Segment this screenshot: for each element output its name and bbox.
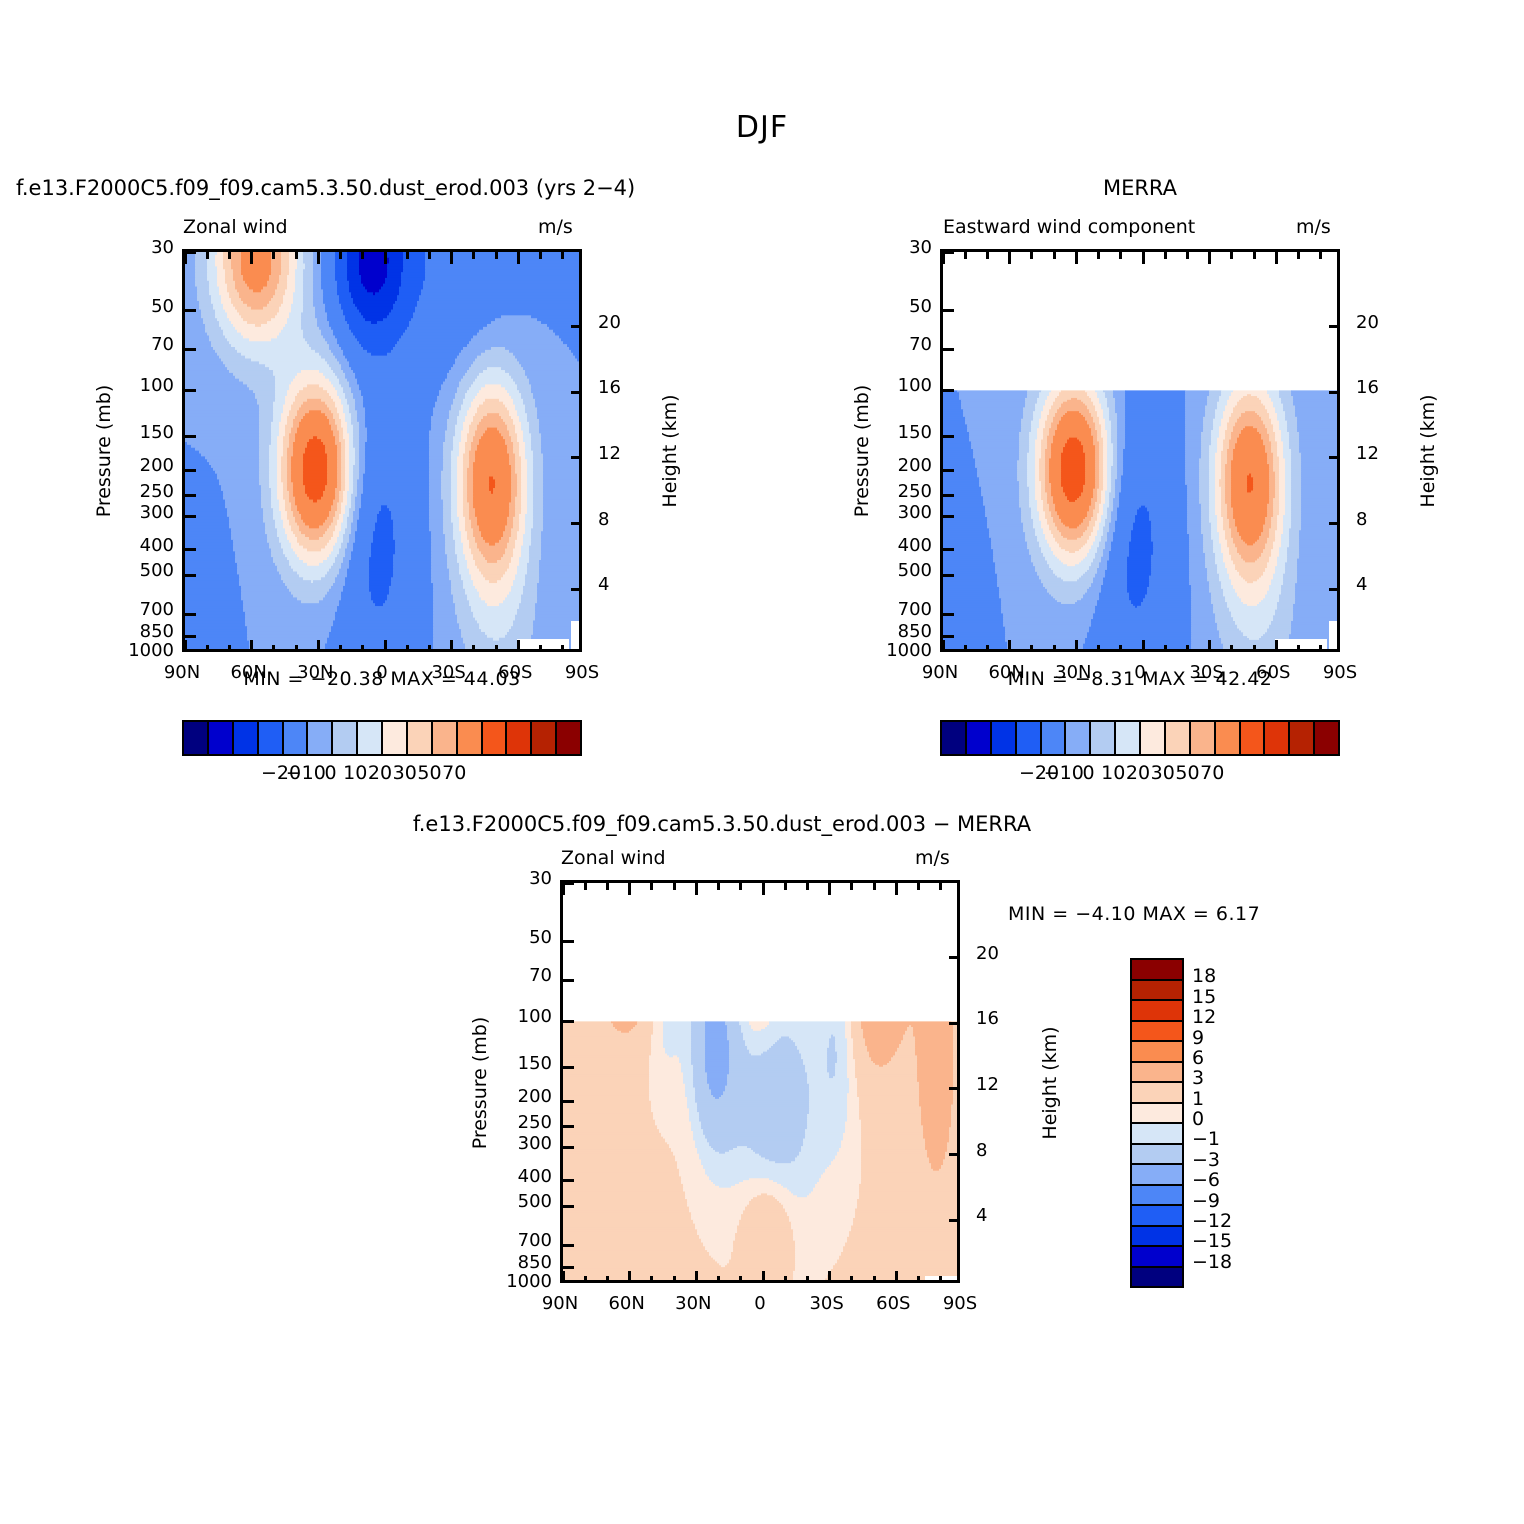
pressure-tick <box>563 1100 574 1103</box>
colorbar-cell-14 <box>532 722 557 754</box>
pressure-tick-label: 300 <box>862 502 932 523</box>
obs-variable-label: Eastward wind component <box>943 216 1195 238</box>
pressure-tick <box>943 548 954 551</box>
lat-tick <box>1186 645 1189 652</box>
lat-tick <box>606 1276 609 1283</box>
height-tick-label: 12 <box>598 443 638 464</box>
colorbar-cell-13 <box>1265 722 1290 754</box>
lat-tick-top <box>317 252 320 264</box>
colorbar-tick-label: 70 <box>1177 762 1247 784</box>
height-tick-label: 4 <box>598 574 638 595</box>
height-tick-label: 16 <box>1356 377 1396 398</box>
height-tick-label: 20 <box>976 943 1016 964</box>
colorbar-tick-label: 12 <box>1192 1006 1262 1028</box>
height-tick <box>571 456 582 459</box>
colorbar-tick-label: −18 <box>1192 1251 1262 1273</box>
height-tick <box>571 522 582 525</box>
lat-tick <box>739 1276 742 1283</box>
lat-tick <box>1164 645 1167 652</box>
lat-tick-top <box>206 252 209 259</box>
diff-height-axis-label: Height (km) <box>1039 973 1061 1193</box>
pressure-tick <box>185 309 196 312</box>
colorbar-tick-label: −1 <box>1192 1128 1262 1150</box>
height-tick-label: 8 <box>598 509 638 530</box>
height-tick <box>1329 522 1340 525</box>
lat-tick <box>561 645 564 652</box>
lat-tick-top <box>1164 252 1167 259</box>
colorbar-tick-label: −9 <box>1192 1190 1262 1212</box>
pressure-tick-label: 150 <box>862 422 932 443</box>
pressure-tick-label: 500 <box>482 1191 552 1212</box>
lat-tick-top <box>272 252 275 259</box>
colorbar-tick-label: 1 <box>1192 1088 1262 1110</box>
pressure-tick-label: 150 <box>104 422 174 443</box>
height-tick <box>1329 456 1340 459</box>
colorbar-tick-label: 18 <box>1192 965 1262 987</box>
colorbar-cell-10 <box>433 722 458 754</box>
pressure-tick <box>563 1179 574 1182</box>
lat-tick <box>361 645 364 652</box>
pressure-tick <box>185 389 196 392</box>
lat-tick-top <box>561 252 564 259</box>
lat-tick-label: 30N <box>1038 662 1108 683</box>
obs-height-axis-label: Height (km) <box>1417 341 1439 561</box>
pressure-tick <box>943 469 954 472</box>
pressure-tick-label: 50 <box>482 927 552 948</box>
lat-tick-label: 60S <box>858 1293 928 1314</box>
lat-tick-top <box>1297 252 1300 259</box>
lat-tick <box>1142 640 1145 652</box>
lat-tick <box>584 1276 587 1283</box>
pressure-tick <box>563 1125 574 1128</box>
colorbar-cell-9 <box>1132 1145 1182 1166</box>
lat-tick-top <box>517 252 520 264</box>
lat-tick-top <box>917 883 920 890</box>
lat-tick-label: 30S <box>792 1293 862 1314</box>
colorbar-cell-6 <box>1091 722 1116 754</box>
pressure-tick <box>943 515 954 518</box>
lat-tick-top <box>1097 252 1100 259</box>
lat-tick <box>650 1276 653 1283</box>
lat-tick <box>317 640 320 652</box>
lat-tick-top <box>1275 252 1278 264</box>
lat-tick <box>272 645 275 652</box>
lat-tick <box>517 640 520 652</box>
lat-tick-top <box>784 883 787 890</box>
lat-tick-top <box>873 883 876 890</box>
model-panel-title: f.e13.F2000C5.f09_f09.cam5.3.50.dust_ero… <box>16 176 635 200</box>
colorbar-cell-8 <box>1132 1124 1182 1145</box>
pressure-tick-label: 150 <box>482 1053 552 1074</box>
colorbar-tick-label: 0 <box>1192 1108 1262 1130</box>
pressure-tick <box>185 348 196 351</box>
colorbar-cell-4 <box>1042 722 1067 754</box>
lat-tick-top <box>1119 252 1122 259</box>
lat-tick <box>250 640 253 652</box>
lat-tick-top <box>584 883 587 890</box>
lat-tick-top <box>739 883 742 890</box>
colorbar-cell-15 <box>1132 1268 1182 1287</box>
lat-tick <box>1208 640 1211 652</box>
pressure-tick-label: 100 <box>862 375 932 396</box>
pressure-tick-label: 400 <box>104 535 174 556</box>
lat-tick <box>206 645 209 652</box>
height-tick-label: 20 <box>598 312 638 333</box>
colorbar-cell-5 <box>308 722 333 754</box>
lat-tick-top <box>539 252 542 259</box>
pressure-tick-label: 50 <box>862 296 932 317</box>
colorbar-cell-11 <box>1132 1186 1182 1207</box>
pressure-tick <box>185 469 196 472</box>
lat-tick-top <box>472 252 475 259</box>
height-tick <box>1329 391 1340 394</box>
lat-tick-top <box>606 883 609 890</box>
colorbar-cell-1 <box>209 722 234 754</box>
colorbar-cell-11 <box>1216 722 1241 754</box>
lat-tick-top <box>939 883 942 890</box>
pressure-tick <box>563 940 574 943</box>
pressure-tick <box>563 882 574 885</box>
colorbar-cell-9 <box>408 722 433 754</box>
colorbar-cell-0 <box>1132 960 1182 981</box>
lat-tick-label: 90N <box>905 662 975 683</box>
lat-tick-top <box>562 883 565 895</box>
lat-tick <box>1297 645 1300 652</box>
pressure-tick-label: 400 <box>862 535 932 556</box>
pressure-tick-label: 400 <box>482 1166 552 1187</box>
pressure-tick <box>943 251 954 254</box>
height-tick <box>571 325 582 328</box>
colorbar-cell-12 <box>1132 1206 1182 1227</box>
pressure-tick-label: 1000 <box>862 640 932 661</box>
pressure-tick <box>563 1244 574 1247</box>
pressure-tick-label: 500 <box>862 560 932 581</box>
contour-field <box>563 883 960 1283</box>
diff-units-label: m/s <box>915 847 950 869</box>
lat-tick-top <box>850 883 853 890</box>
colorbar-cell-4 <box>284 722 309 754</box>
pressure-tick <box>185 635 196 638</box>
lat-tick <box>1230 645 1233 652</box>
colorbar-tick-label: 9 <box>1192 1027 1262 1049</box>
model-variable-label: Zonal wind <box>183 216 288 238</box>
colorbar-cell-1 <box>1132 981 1182 1002</box>
lat-tick-top <box>1008 252 1011 264</box>
lat-tick-top <box>184 252 187 264</box>
height-tick-label: 20 <box>1356 312 1396 333</box>
pressure-tick <box>563 1020 574 1023</box>
height-tick-label: 4 <box>1356 574 1396 595</box>
colorbar-cell-1 <box>967 722 992 754</box>
pressure-tick-label: 250 <box>104 481 174 502</box>
height-tick <box>949 1087 960 1090</box>
lat-tick <box>1030 645 1033 652</box>
lat-tick-top <box>450 252 453 264</box>
lat-tick-label: 60N <box>972 662 1042 683</box>
lat-tick <box>917 1276 920 1283</box>
model-pressure-axis-label: Pressure (mb) <box>93 341 115 561</box>
pressure-tick <box>943 613 954 616</box>
pressure-tick <box>943 435 954 438</box>
obs-colorbar[interactable] <box>940 720 1340 756</box>
pressure-tick <box>563 1266 574 1269</box>
diff-variable-label: Zonal wind <box>561 847 666 869</box>
lat-tick-label: 90N <box>525 1293 595 1314</box>
obs-plot-area[interactable] <box>940 249 1340 652</box>
lat-tick-top <box>1208 252 1211 264</box>
pressure-tick-label: 200 <box>482 1086 552 1107</box>
lat-tick-top <box>1253 252 1256 259</box>
colorbar-cell-13 <box>507 722 532 754</box>
colorbar-cell-0 <box>184 722 209 754</box>
colorbar-tick-label: −3 <box>1192 1149 1262 1171</box>
lat-tick-top <box>250 252 253 264</box>
pressure-tick-label: 700 <box>104 599 174 620</box>
lat-tick <box>184 640 187 652</box>
colorbar-cell-3 <box>1017 722 1042 754</box>
colorbar-cell-9 <box>1166 722 1191 754</box>
model-colorbar[interactable] <box>182 720 582 756</box>
lat-tick <box>964 645 967 652</box>
lat-tick <box>1119 645 1122 652</box>
lat-tick-label: 60S <box>1238 662 1308 683</box>
colorbar-cell-15 <box>1315 722 1338 754</box>
pressure-tick-label: 70 <box>104 334 174 355</box>
lat-tick <box>1075 640 1078 652</box>
pressure-tick-label: 1000 <box>482 1271 552 1292</box>
height-tick-label: 16 <box>976 1008 1016 1029</box>
colorbar-cell-7 <box>358 722 383 754</box>
lat-tick-top <box>650 883 653 890</box>
pressure-tick-label: 250 <box>862 481 932 502</box>
lat-tick <box>850 1276 853 1283</box>
height-tick-label: 8 <box>1356 509 1396 530</box>
colorbar-tick-label: 6 <box>1192 1047 1262 1069</box>
pressure-tick-label: 30 <box>104 237 174 258</box>
lat-tick-top <box>964 252 967 259</box>
height-tick <box>1329 588 1340 591</box>
pressure-tick-label: 30 <box>862 237 932 258</box>
colorbar-cell-2 <box>992 722 1017 754</box>
pressure-tick-label: 1000 <box>104 640 174 661</box>
model-height-axis-label: Height (km) <box>659 341 681 561</box>
diff-colorbar[interactable] <box>1130 958 1184 1288</box>
lat-tick <box>450 640 453 652</box>
diff-minmax-label: MIN = −4.10 MAX = 6.17 <box>1008 903 1260 925</box>
lat-tick-top <box>762 883 765 895</box>
lat-tick-top <box>1230 252 1233 259</box>
colorbar-cell-6 <box>1132 1083 1182 1104</box>
pressure-tick <box>185 613 196 616</box>
lat-tick <box>717 1276 720 1283</box>
lat-tick-label: 60N <box>592 1293 662 1314</box>
lat-tick <box>1319 645 1322 652</box>
lat-tick <box>228 645 231 652</box>
colorbar-tick-label: 3 <box>1192 1067 1262 1089</box>
lat-tick-top <box>806 883 809 890</box>
colorbar-tick-label: −15 <box>1192 1230 1262 1252</box>
colorbar-cell-13 <box>1132 1227 1182 1248</box>
colorbar-cell-12 <box>483 722 508 754</box>
colorbar-cell-15 <box>557 722 580 754</box>
lat-tick <box>828 1271 831 1283</box>
pressure-tick <box>563 1066 574 1069</box>
colorbar-tick-label: 15 <box>1192 986 1262 1008</box>
colorbar-tick-label: 70 <box>419 762 489 784</box>
lat-tick-label: 60N <box>214 662 284 683</box>
height-tick-label: 12 <box>1356 443 1396 464</box>
lat-tick-top <box>384 252 387 264</box>
pressure-tick-label: 700 <box>482 1230 552 1251</box>
pressure-tick <box>185 251 196 254</box>
pressure-tick <box>943 635 954 638</box>
lat-tick-label: 0 <box>1105 662 1175 683</box>
colorbar-cell-8 <box>383 722 408 754</box>
lat-tick-top <box>1186 252 1189 259</box>
lat-tick-label: 90N <box>147 662 217 683</box>
lat-tick-label: 90S <box>1305 662 1375 683</box>
lat-tick <box>406 645 409 652</box>
lat-tick-label: 30S <box>414 662 484 683</box>
lat-tick <box>986 645 989 652</box>
pressure-tick-label: 300 <box>482 1133 552 1154</box>
season-title: DJF <box>612 110 912 145</box>
lat-tick <box>806 1276 809 1283</box>
diff-plot-area[interactable] <box>560 880 960 1283</box>
lat-tick-top <box>895 883 898 895</box>
pressure-tick <box>185 548 196 551</box>
lat-tick-top <box>695 883 698 895</box>
lat-tick-top <box>406 252 409 259</box>
colorbar-cell-4 <box>1132 1042 1182 1063</box>
colorbar-cell-12 <box>1241 722 1266 754</box>
diff-panel-title: f.e13.F2000C5.f09_f09.cam5.3.50.dust_ero… <box>382 812 1062 836</box>
pressure-tick <box>943 494 954 497</box>
pressure-tick <box>943 309 954 312</box>
height-tick-label: 8 <box>976 1140 1016 1161</box>
lat-tick <box>1053 645 1056 652</box>
height-tick <box>949 1153 960 1156</box>
colorbar-cell-5 <box>1132 1063 1182 1084</box>
lat-tick-top <box>495 252 498 259</box>
lat-tick-label: 0 <box>725 1293 795 1314</box>
pressure-tick-label: 250 <box>482 1112 552 1133</box>
pressure-tick <box>185 574 196 577</box>
height-tick <box>949 1022 960 1025</box>
height-tick-label: 4 <box>976 1205 1016 1226</box>
lat-tick <box>428 645 431 652</box>
colorbar-cell-10 <box>1132 1165 1182 1186</box>
colorbar-tick-label: −12 <box>1192 1210 1262 1232</box>
colorbar-cell-8 <box>1141 722 1166 754</box>
height-tick <box>571 588 582 591</box>
colorbar-cell-5 <box>1066 722 1091 754</box>
pressure-tick-label: 100 <box>104 375 174 396</box>
pressure-tick <box>185 494 196 497</box>
pressure-tick-label: 50 <box>104 296 174 317</box>
colorbar-cell-7 <box>1116 722 1141 754</box>
colorbar-cell-11 <box>458 722 483 754</box>
pressure-tick-label: 200 <box>104 455 174 476</box>
lat-tick <box>628 1271 631 1283</box>
colorbar-cell-14 <box>1132 1247 1182 1268</box>
lat-tick-top <box>428 252 431 259</box>
pressure-tick-label: 100 <box>482 1006 552 1027</box>
contour-field <box>185 252 582 652</box>
colorbar-cell-6 <box>333 722 358 754</box>
lat-tick <box>873 1276 876 1283</box>
lat-tick-label: 30N <box>658 1293 728 1314</box>
lat-tick-top <box>942 252 945 264</box>
lat-tick-top <box>228 252 231 259</box>
lat-tick <box>1253 645 1256 652</box>
colorbar-cell-3 <box>259 722 284 754</box>
lat-tick <box>539 645 542 652</box>
lat-tick <box>495 645 498 652</box>
pressure-tick <box>563 1146 574 1149</box>
colorbar-cell-3 <box>1132 1022 1182 1043</box>
lat-tick <box>295 645 298 652</box>
lat-tick-top <box>1030 252 1033 259</box>
pressure-tick <box>185 435 196 438</box>
lat-tick-label: 30N <box>280 662 350 683</box>
lat-tick <box>562 1271 565 1283</box>
lat-tick-top <box>1319 252 1322 259</box>
colorbar-cell-7 <box>1132 1104 1182 1125</box>
pressure-tick <box>943 574 954 577</box>
obs-panel-title: MERRA <box>940 176 1340 200</box>
lat-tick-top <box>673 883 676 890</box>
height-tick <box>1329 325 1340 328</box>
lat-tick-top <box>717 883 720 890</box>
lat-tick-top <box>295 252 298 259</box>
lat-tick <box>939 1276 942 1283</box>
lat-tick-label: 0 <box>347 662 417 683</box>
model-plot-area[interactable] <box>182 249 582 652</box>
lat-tick-top <box>339 252 342 259</box>
lat-tick <box>1097 645 1100 652</box>
lat-tick <box>1008 640 1011 652</box>
colorbar-cell-14 <box>1290 722 1315 754</box>
lat-tick-top <box>1053 252 1056 259</box>
lat-tick-top <box>828 883 831 895</box>
model-units-label: m/s <box>538 216 573 238</box>
colorbar-tick-label: −6 <box>1192 1169 1262 1191</box>
height-tick-label: 16 <box>598 377 638 398</box>
lat-tick-label: 60S <box>480 662 550 683</box>
pressure-tick-label: 70 <box>862 334 932 355</box>
pressure-tick-label: 700 <box>862 599 932 620</box>
pressure-tick-label: 200 <box>862 455 932 476</box>
lat-tick-label: 90S <box>547 662 617 683</box>
lat-tick <box>784 1276 787 1283</box>
colorbar-cell-2 <box>1132 1001 1182 1022</box>
colorbar-cell-0 <box>942 722 967 754</box>
lat-tick-top <box>1142 252 1145 264</box>
lat-tick-top <box>361 252 364 259</box>
pressure-tick <box>943 389 954 392</box>
pressure-tick <box>563 1205 574 1208</box>
lat-tick <box>673 1276 676 1283</box>
lat-tick-label: 90S <box>925 1293 995 1314</box>
pressure-tick-label: 70 <box>482 965 552 986</box>
pressure-tick-label: 300 <box>104 502 174 523</box>
height-tick <box>949 1219 960 1222</box>
lat-tick-top <box>1075 252 1078 264</box>
lat-tick-label: 30S <box>1172 662 1242 683</box>
pressure-tick <box>185 515 196 518</box>
height-tick <box>571 391 582 394</box>
